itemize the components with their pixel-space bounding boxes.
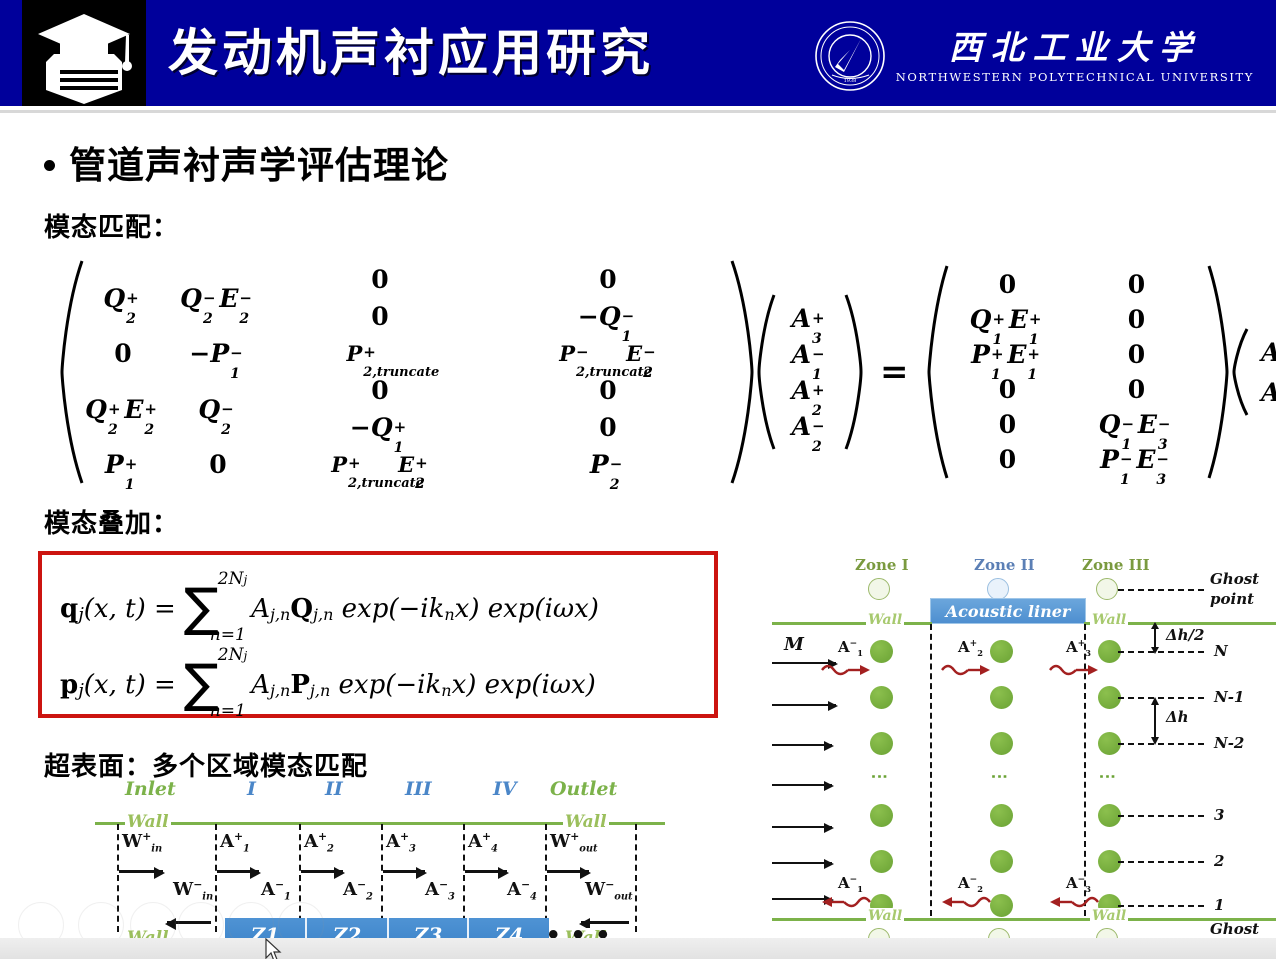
inflow-arrow-6 [772,862,832,864]
reflect-label-a1-minus: A−1 [838,874,863,894]
npu-seal-icon: 1938 [814,20,886,92]
section-mode-superposition: 模态叠加： [44,503,179,540]
amp-a1-minus: A−1 [261,878,291,903]
arrow-forward-2 [301,870,343,873]
ghost-point-top-line2: point [1210,590,1254,608]
node-z2-rowN1 [990,686,1013,709]
sum-lower-q: n=1 [210,627,246,644]
node-z1-row3 [870,804,893,827]
interface-3 [381,824,383,932]
zone-label-ii: Zone II [974,556,1035,574]
spacing-full-arrow [1148,697,1162,745]
label-region-iii: III [405,778,432,800]
reflect-label-a3-minus: A−3 [1066,874,1091,894]
label-outlet: Outlet [550,778,617,800]
arrow-forward-4 [465,870,507,873]
reflect-label-a2-minus: A−2 [958,874,983,894]
incident-arrow-2-top [940,660,992,678]
top-wall-label-left: Wall [125,812,171,832]
bottom-wall-label-left: Wall [866,908,904,924]
vdots-z3: ⋮ [1105,768,1110,785]
rhs-vector: A+1 A−3 [1249,332,1276,412]
arrow-forward-3 [383,870,425,873]
label-region-i: I [247,778,256,800]
incident-label-a1-minus-top: A−1 [838,638,863,658]
ghost-point-top-line1: Ghost [1210,570,1259,588]
amp-a3-minus: A−3 [425,878,455,903]
incident-label-a2-plus-top: A+2 [958,638,983,658]
amp-a3-plus: A+3 [386,830,416,855]
university-logo: 1938 西北工业大学 NORTHWESTERN POLYTECHNICAL U… [814,14,1254,98]
slide-header: 发动机声衬应用研究 1938 西北工业大学 NORTHWESTERN POLYT… [0,0,1276,110]
row-label-N: N [1214,642,1228,660]
header-underline-shadow [0,110,1276,113]
arrow-forward-0 [119,870,163,873]
arrow-forward-1 [217,870,259,873]
matrix-equation: 00 Q+2 Q−2 E−2 0 −Q−1 0 −P−1 P+2,truncat… [58,248,1198,496]
svg-text:1938: 1938 [843,78,856,84]
bullet-dot-icon [44,160,55,171]
amp-a4-plus: A+4 [468,830,498,855]
inflow-arrow-3 [772,744,832,746]
sum-upper-p: 2Nj [218,647,247,664]
interface-5 [545,824,547,932]
paren-close-B [1207,248,1231,496]
ghost-dash-top [1118,589,1204,591]
paren-open-A [58,248,84,496]
bullet-heading: 管道声衬声学评估理论 [44,135,449,189]
node-z2-row3 [990,804,1013,827]
paren-open-y [1231,248,1249,496]
slide-root: 发动机声衬应用研究 1938 西北工业大学 NORTHWESTERN POLYT… [0,0,1276,959]
node-z2-rowN [990,640,1013,663]
university-name-cn: 西北工业大学 [949,29,1201,67]
university-name-en: NORTHWESTERN POLYTECHNICAL UNIVERSITY [896,70,1254,84]
inflow-arrow-4 [772,784,832,786]
node-z2-row2 [990,850,1013,873]
spacing-half-label: Δh/2 [1166,626,1204,644]
amp-w-out-minus: W−out [585,878,633,903]
amp-a4-minus: A−4 [507,878,537,903]
paren-close-A [730,248,756,496]
bottom-wall-label-right: Wall [1090,908,1128,924]
label-region-ii: II [325,778,343,800]
incident-arrow-3-top [1048,660,1100,678]
row-label-3: 3 [1214,806,1224,824]
spacing-full-label: Δh [1166,708,1189,726]
rowline-1 [1118,905,1204,907]
graduation-cap-books-icon [30,8,138,104]
top-wall-left [772,622,932,625]
paren-open-x [756,248,776,496]
boxed-equations: qj (x, t) = 2Nj ∑ n=1 Aj,n Qj,n exp(−ikn… [38,551,718,718]
node-z1-rowN2 [870,732,893,755]
zone-label-iii: Zone III [1082,556,1150,574]
equals-sign: = [880,352,909,392]
rowline-2 [1118,861,1204,863]
vdots-z2: ⋮ [997,768,1002,785]
bottom-wall-line [772,918,1276,921]
zone-label-i: Zone I [855,556,909,574]
incident-arrow-1-top [820,660,872,678]
ghost-node-top-zone3 [1096,578,1118,600]
rowline-3 [1118,815,1204,817]
taskbar[interactable] [0,938,1276,959]
zone-divider-1 [930,624,932,916]
incident-label-a3-plus-top: A+3 [1066,638,1091,658]
row-label-2: 2 [1214,852,1224,870]
sum-upper-q: 2Nj [218,571,247,588]
inflow-arrow-5 [772,826,832,828]
unknown-vector: A+3 A−1 A+2 A−2 [776,300,844,444]
row-label-N1: N-1 [1214,688,1244,706]
section-mode-matching: 模态匹配： [44,207,179,244]
row-label-N2: N-2 [1214,734,1244,752]
amp-a2-plus: A+2 [304,830,334,855]
interface-4 [463,824,465,932]
row-label-1: 1 [1214,896,1224,914]
acoustic-liner-box: Acoustic liner [930,598,1086,624]
top-wall-label-right: Wall [1090,612,1128,628]
amp-w-out-plus: W+out [550,830,598,855]
top-wall-label-left: Wall [866,612,904,628]
node-z1-row2 [870,850,893,873]
inflow-arrow-2 [772,704,836,706]
label-inlet: Inlet [125,778,176,800]
node-z2-rowN2 [990,732,1013,755]
amp-w-in-plus: W+in [122,830,162,855]
rhs-matrix: 00 Q+1 E+1 0 P+1 E+1 0 00 0Q−1 E−3 0P−1 … [949,267,1207,477]
liner-grid-diagram: Zone I Zone II Zone III Ghost point Acou… [762,556,1272,956]
label-region-iv: IV [493,778,517,800]
summation-symbol-q: 2Nj ∑ n=1 [184,571,247,644]
amp-a1-plus: A+1 [220,830,250,855]
sum-lower-p: n=1 [210,703,246,720]
mach-label: M [784,634,804,655]
arrow-forward-5 [547,870,589,873]
equation-q: qj (x, t) = 2Nj ∑ n=1 Aj,n Qj,n exp(−ikn… [60,573,599,646]
ghost-node-top-zone1 [868,578,890,600]
amp-a2-minus: A−2 [343,878,373,903]
summation-symbol-p: 2Nj ∑ n=1 [184,647,247,720]
coefficient-matrix: 00 Q+2 Q−2 E−2 0 −Q−1 0 −P−1 P+2,truncat… [84,261,730,483]
amp-w-in-minus: W−in [173,878,213,903]
node-z1-rowN [870,640,893,663]
ghost-point-bottom-line1: Ghost [1210,920,1259,938]
reflect-arrow-2 [940,892,992,910]
mouse-pointer-icon [265,938,283,959]
reflect-arrow-1 [820,892,872,910]
paren-close-x [844,248,864,496]
ghost-node-top-zone2 [987,578,1009,600]
interface-6 [635,824,637,932]
top-wall-label-right: Wall [563,812,609,832]
node-z2-row1 [990,894,1013,917]
bullet-heading-label: 管道声衬声学评估理论 [69,135,449,189]
page-title: 发动机声衬应用研究 [168,24,654,82]
vdots-z1: ⋮ [877,768,882,785]
node-z1-rowN1 [870,686,893,709]
paren-open-B [925,248,949,496]
equation-p: pj (x, t) = 2Nj ∑ n=1 Aj,n Pj,n exp(−ikn… [60,649,596,722]
spacing-half-arrow [1148,622,1162,654]
